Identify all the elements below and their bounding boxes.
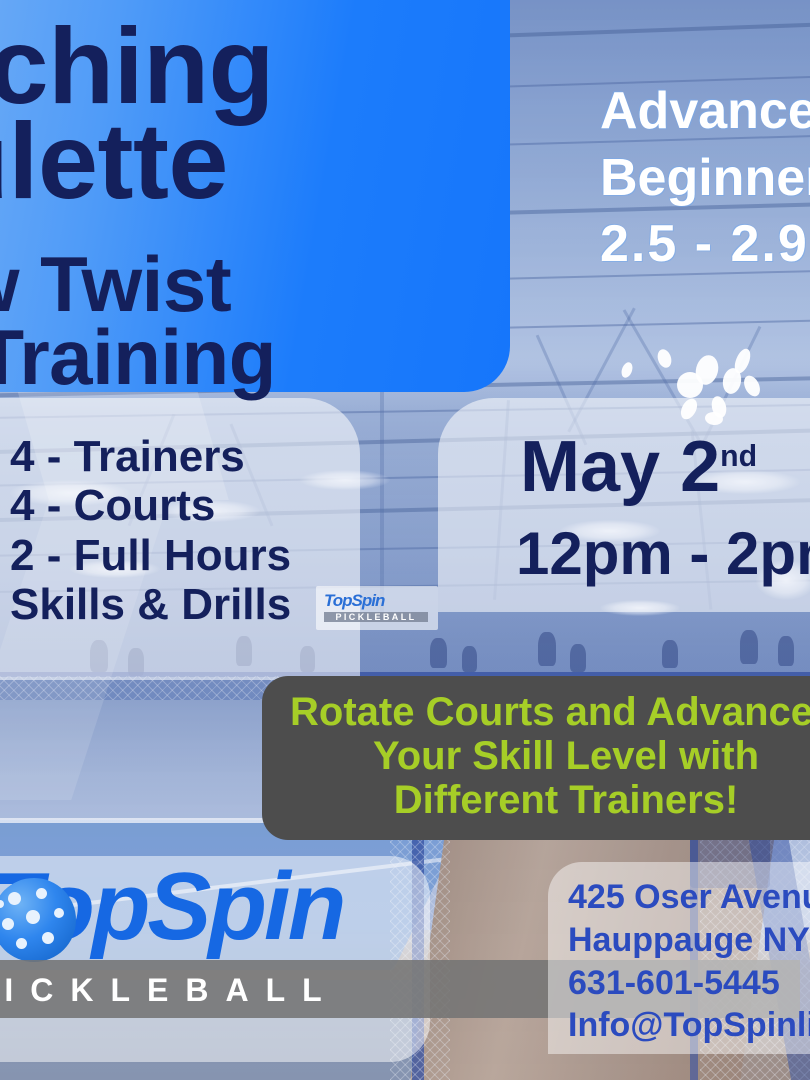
stat-item-skills-drills: Skills & Drills (10, 580, 291, 629)
court-wall-logo-banner: TopSpin PICKLEBALL (316, 586, 438, 630)
event-date: May 2nd (520, 430, 810, 506)
skill-level-line-2: Beginner (600, 145, 810, 212)
brand-tagline: PICKLEBALL (0, 972, 339, 1009)
skill-level-line-1: Advanced (600, 78, 810, 145)
skill-level-rating-range: 2.5 - 2.9 (600, 211, 810, 278)
headline-line-3: A New Twist (0, 249, 526, 321)
contact-email[interactable]: Info@TopSpinli.com (568, 1004, 810, 1047)
headline-line-4: On Training (0, 322, 526, 394)
stat-item-trainers: 4 - Trainers (10, 432, 291, 481)
event-stats-list: 4 - Trainers 4 - Courts 2 - Full Hours S… (10, 432, 291, 629)
callout-line-3: Different Trainers! (290, 778, 810, 822)
schedule-block: May 2nd 12pm - 2pm (520, 430, 810, 585)
court-wall-logo-tagline: PICKLEBALL (324, 612, 428, 622)
contact-phone[interactable]: 631-601-5445 (568, 962, 810, 1005)
callout-line-2: Your Skill Level with (290, 734, 810, 778)
court-wall-logo-wordmark: TopSpin (324, 591, 384, 611)
contact-address-line-2: Hauppauge NY 11788 (568, 919, 810, 962)
stat-item-courts: 4 - Courts (10, 481, 291, 530)
event-date-value: May 2 (520, 427, 720, 507)
contact-address-line-1: 425 Oser Avenue (568, 876, 810, 919)
event-date-ordinal: nd (720, 440, 757, 473)
event-time: 12pm - 2pm (516, 522, 810, 585)
callout-banner: Rotate Courts and Advance Your Skill Lev… (262, 676, 810, 840)
contact-block: 425 Oser Avenue Hauppauge NY 11788 631-6… (568, 876, 810, 1047)
skill-level-block: Advanced Beginner 2.5 - 2.9 (600, 78, 810, 278)
stat-item-hours: 2 - Full Hours (10, 531, 291, 580)
callout-line-1: Rotate Courts and Advance (290, 690, 810, 734)
headline-text-group: Coaching Roulette A New Twist On Trainin… (0, 16, 526, 394)
flyer-poster: Coaching Roulette A New Twist On Trainin… (0, 0, 810, 1080)
headline-line-2: Roulette (0, 111, 526, 210)
